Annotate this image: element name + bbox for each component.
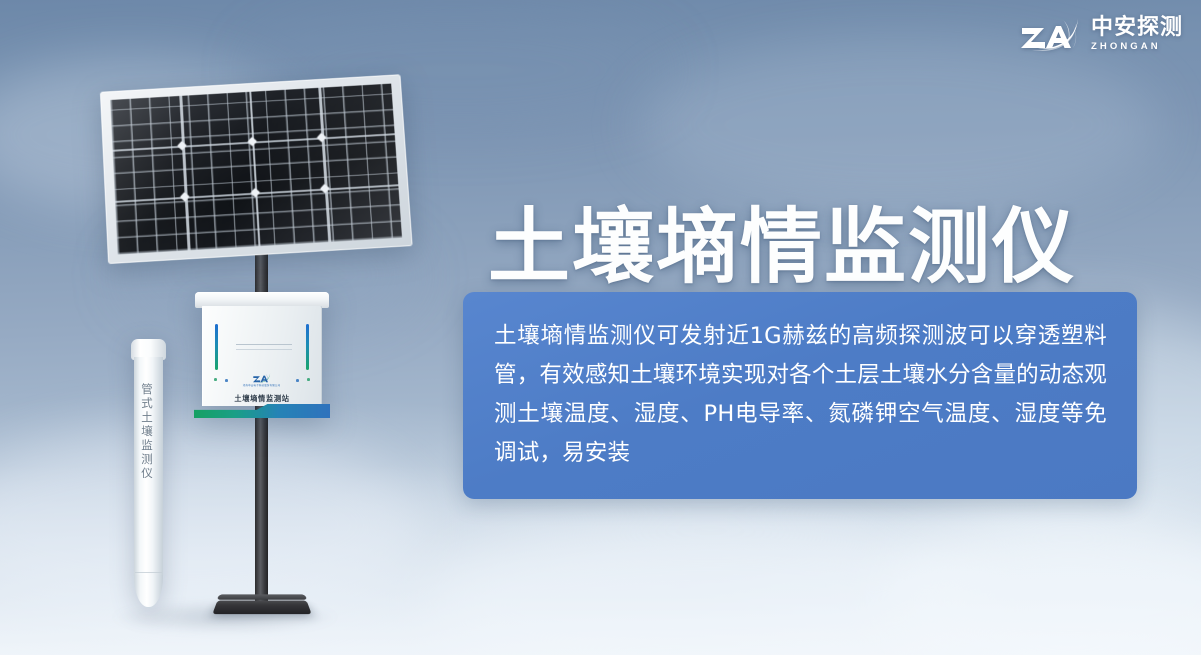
cabinet-logo: 河南中安电子科技股份有限公司 (202, 372, 322, 388)
solar-panel-frame (100, 74, 413, 264)
probe-label: 管式土壤监测仪 (142, 383, 155, 481)
solar-panel-icon (100, 74, 413, 264)
base-plate-icon (217, 594, 308, 599)
tube-soil-probe-icon: 管式土壤监测仪 (131, 339, 166, 605)
cabinet-body: 河南中安电子科技股份有限公司 土壤墒情监测站 (202, 306, 322, 406)
brand-name-en: ZHONGAN (1091, 42, 1183, 52)
control-cabinet: 河南中安电子科技股份有限公司 土壤墒情监测站 (200, 292, 324, 420)
description-text: 土壤墒情监测仪可发射近1G赫兹的高频探测波可以穿透塑料管，有效感知土壤环境实现对… (494, 317, 1107, 473)
cabinet-accent-stripe (306, 324, 309, 370)
brand-logo: 中安探测 ZHONGAN (1018, 14, 1183, 54)
za-swoosh-logo-icon (249, 372, 275, 384)
product-illustration: 河南中安电子科技股份有限公司 土壤墒情监测站 管式土壤监测仪 (0, 0, 470, 655)
za-swoosh-logo-icon (1018, 14, 1084, 54)
brand-wordmark: 中安探测 ZHONGAN (1091, 17, 1183, 52)
solar-panel-glass (110, 84, 402, 255)
cabinet-logo-subtitle: 河南中安电子科技股份有限公司 (243, 385, 281, 387)
brand-name-cn: 中安探测 (1091, 17, 1183, 39)
description-panel: 土壤墒情监测仪可发射近1G赫兹的高频探测波可以穿透塑料管，有效感知土壤环境实现对… (463, 292, 1137, 499)
cabinet-accent-stripe (215, 324, 218, 370)
cabinet-label: 土壤墒情监测站 (202, 394, 322, 404)
poster-canvas: 中安探测 ZHONGAN 土壤墒情监测仪 土壤墒情监测仪可发射近1G赫兹的高频探… (0, 0, 1201, 655)
page-title: 土壤墒情监测仪 (488, 207, 1076, 289)
probe-tip (134, 575, 163, 607)
cabinet-vent-line (236, 349, 292, 350)
cabinet-base-band (194, 404, 330, 418)
probe-seam (135, 572, 162, 573)
cloud-shape (640, 40, 1160, 210)
base-plate-icon (212, 601, 311, 615)
cabinet-vent-line (236, 344, 292, 345)
